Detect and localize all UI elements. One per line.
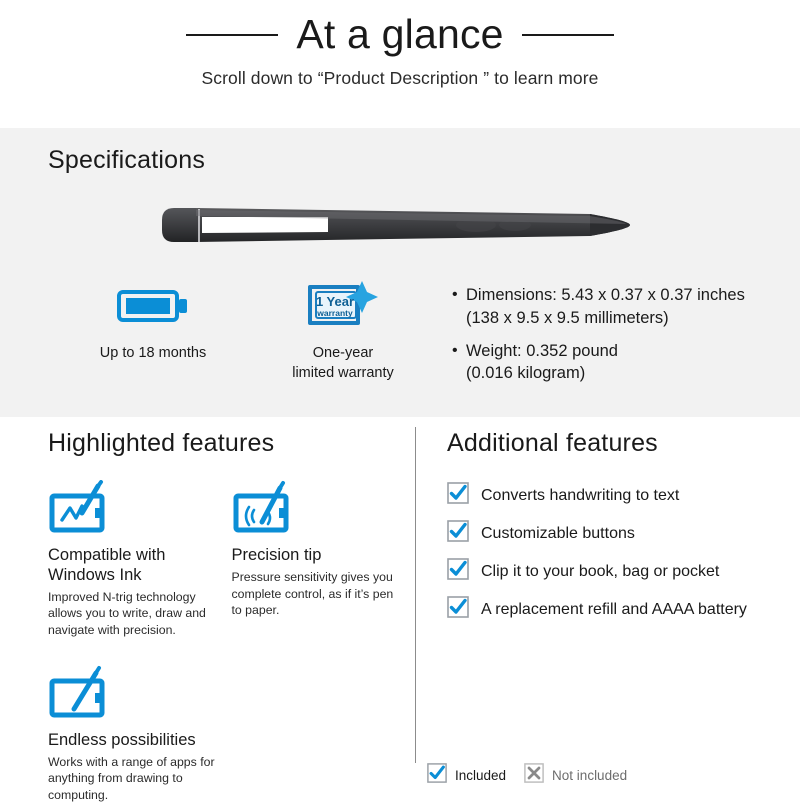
list-item-label: A replacement refill and AAAA battery bbox=[481, 601, 747, 619]
battery-caption: Up to 18 months bbox=[58, 344, 248, 364]
feature-title: Compatible with Windows Ink bbox=[48, 546, 220, 586]
spec-bullets: • Dimensions: 5.43 x 0.37 x 0.37 inches … bbox=[452, 280, 745, 395]
highlighted-features-column: Highlighted features Compatible with Win… bbox=[0, 417, 415, 800]
feature-desc: Works with a range of apps for anything … bbox=[48, 754, 238, 804]
page-subtitle: Scroll down to “Product Description ” to… bbox=[0, 68, 800, 89]
spec-warranty: 1 Year warranty One-year limited warrant… bbox=[258, 280, 428, 383]
title-row: At a glance bbox=[0, 0, 800, 55]
highlighted-features-heading: Highlighted features bbox=[48, 429, 415, 458]
spec-bullet-text: Weight: 0.352 pound (0.016 kilogram) bbox=[466, 340, 618, 386]
additional-features-list: Converts handwriting to text Customizabl… bbox=[447, 482, 800, 623]
title-rule-left bbox=[186, 34, 278, 36]
checkbox-checked-icon bbox=[427, 763, 447, 788]
feature-desc: Pressure sensitivity gives you complete … bbox=[232, 569, 404, 619]
warranty-badge-icon: 1 Year warranty bbox=[258, 280, 428, 332]
checkbox-checked-icon bbox=[447, 482, 469, 509]
legend-included-label: Included bbox=[455, 768, 506, 783]
checkbox-checked-icon bbox=[447, 596, 469, 623]
bullet-dot-icon: • bbox=[452, 284, 466, 330]
spec-bullet-dimensions: • Dimensions: 5.43 x 0.37 x 0.37 inches … bbox=[452, 284, 745, 330]
feature-windows-ink: Compatible with Windows Ink Improved N-t… bbox=[48, 480, 220, 639]
feature-desc: Improved N-trig technology allows you to… bbox=[48, 589, 220, 639]
tablet-draw-icon bbox=[48, 665, 238, 721]
title-rule-right bbox=[522, 34, 614, 36]
list-item: A replacement refill and AAAA battery bbox=[447, 596, 800, 623]
legend-not-included-label: Not included bbox=[552, 768, 627, 783]
specs-row: Up to 18 months 1 Year warranty One-year… bbox=[0, 280, 800, 395]
tablet-pen-icon bbox=[48, 480, 220, 536]
feature-precision-tip: Precision tip Pressure sensitivity gives… bbox=[232, 480, 404, 639]
warranty-caption: One-year limited warranty bbox=[258, 344, 428, 383]
spec-battery: Up to 18 months bbox=[58, 280, 248, 364]
warranty-badge-line1: 1 Year bbox=[316, 294, 354, 309]
spec-bullet-weight: • Weight: 0.352 pound (0.016 kilogram) bbox=[452, 340, 745, 386]
highlighted-features-grid: Compatible with Windows Ink Improved N-t… bbox=[48, 480, 415, 639]
features-section: Highlighted features Compatible with Win… bbox=[0, 417, 800, 800]
stylus-pen-image bbox=[160, 194, 640, 256]
legend-not-included: Not included bbox=[524, 763, 627, 788]
list-item-label: Customizable buttons bbox=[481, 525, 635, 543]
checkbox-checked-icon bbox=[447, 520, 469, 547]
spec-bullet-text: Dimensions: 5.43 x 0.37 x 0.37 inches (1… bbox=[466, 284, 745, 330]
feature-title: Endless possibilities bbox=[48, 731, 238, 751]
list-item: Converts handwriting to text bbox=[447, 482, 800, 509]
list-item-label: Clip it to your book, bag or pocket bbox=[481, 563, 719, 581]
list-item: Clip it to your book, bag or pocket bbox=[447, 558, 800, 585]
additional-features-column: Additional features Converts handwriting… bbox=[415, 417, 800, 800]
page-title: At a glance bbox=[296, 14, 503, 55]
battery-icon bbox=[58, 280, 248, 332]
legend-included: Included bbox=[427, 763, 506, 788]
list-item-label: Converts handwriting to text bbox=[481, 487, 679, 505]
specifications-section: Specifications bbox=[0, 128, 800, 417]
legend: Included Not included bbox=[427, 763, 645, 788]
header: At a glance Scroll down to “Product Desc… bbox=[0, 0, 800, 128]
list-item: Customizable buttons bbox=[447, 520, 800, 547]
tablet-pressure-icon bbox=[232, 480, 404, 536]
bullet-dot-icon: • bbox=[452, 340, 466, 386]
checkbox-checked-icon bbox=[447, 558, 469, 585]
feature-title: Precision tip bbox=[232, 546, 404, 566]
warranty-badge-line2: warranty bbox=[316, 308, 353, 318]
checkbox-crossed-icon bbox=[524, 763, 544, 788]
feature-endless-possibilities: Endless possibilities Works with a range… bbox=[48, 665, 238, 804]
specifications-heading: Specifications bbox=[0, 146, 800, 175]
additional-features-heading: Additional features bbox=[447, 429, 800, 458]
